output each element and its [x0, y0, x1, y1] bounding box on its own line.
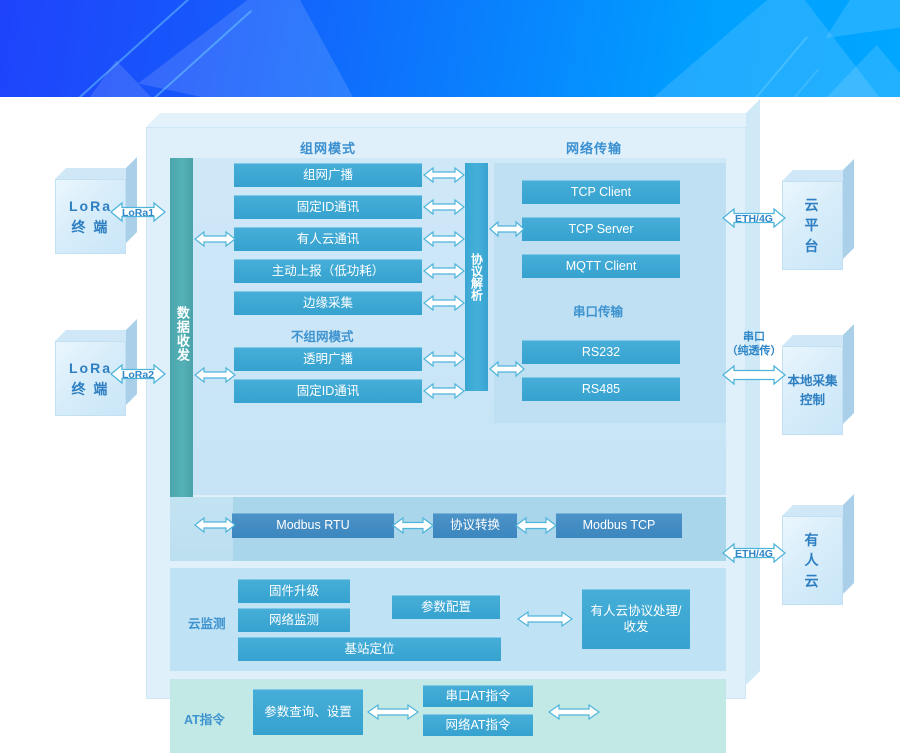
networking-item-4[interactable]: 边缘采集 — [234, 291, 422, 315]
modbus-rtu-button[interactable]: Modbus RTU — [232, 513, 394, 538]
protocol-parse-bar: 协议解析 — [465, 163, 488, 391]
cloud-protocol-handler-button[interactable]: 有人云协议处理/收发 — [582, 589, 690, 649]
section-label-serial-transmission: 串口传输 — [573, 301, 623, 320]
lora-terminal-2-top-face — [55, 330, 137, 341]
svg-text:ETH/4G: ETH/4G — [735, 548, 773, 560]
arrow-data-to-no-networking — [194, 365, 236, 385]
lora-terminal-1-top-face — [55, 168, 137, 179]
arrow-networking-3 — [423, 261, 465, 281]
at-network-command-button[interactable]: 网络AT指令 — [423, 714, 533, 736]
arrow-data-to-modbus — [194, 515, 236, 535]
arrow-convert-to-modbus-tcp — [515, 516, 557, 535]
serial-item-1[interactable]: RS485 — [522, 377, 680, 401]
local-collection-right-face — [843, 324, 854, 424]
data-transceive-bar: 数据收发 — [170, 158, 193, 510]
cloud-monitor-label: 云监测 — [188, 613, 226, 632]
arrow-networking-1 — [423, 197, 465, 217]
serial-link-label: 串口 （纯透传） — [722, 330, 786, 359]
lora-terminal-1-title: LoRa — [69, 196, 112, 216]
diagram-stage: 组网模式 网络传输 数据收发 协议解析 组网广播 固定ID通讯 有人云通讯 主动… — [146, 127, 746, 699]
arrow-serial-link — [722, 363, 786, 387]
svg-text:ETH/4G: ETH/4G — [735, 213, 773, 225]
arrow-cloud-platform-link: ETH/4G — [722, 206, 786, 230]
network-item-0[interactable]: TCP Client — [522, 180, 680, 204]
section-label-network-transmission: 网络传输 — [566, 138, 622, 157]
local-collection-line-1: 控制 — [800, 391, 825, 409]
arrow-networking-4 — [423, 293, 465, 313]
arrow-lora2-link: LoRa2 — [110, 362, 166, 386]
serial-item-0[interactable]: RS232 — [522, 340, 680, 364]
arrow-cloud-to-handler — [517, 609, 573, 629]
usr-cloud-right-face — [843, 494, 854, 594]
local-collection-front-face: 本地采集 控制 — [782, 346, 843, 435]
arrow-data-to-networking — [194, 229, 236, 249]
protocol-parse-label: 协议解析 — [468, 253, 486, 301]
local-collection-line-0: 本地采集 — [787, 372, 837, 390]
cloud-platform-right-face — [843, 159, 854, 259]
at-serial-command-button[interactable]: 串口AT指令 — [423, 685, 533, 707]
networking-item-3[interactable]: 主动上报（低功耗） — [234, 259, 422, 283]
top-banner — [0, 0, 900, 97]
arrow-at-query-to-commands — [367, 702, 419, 722]
networking-item-2[interactable]: 有人云通讯 — [234, 227, 422, 251]
usr-cloud-node[interactable]: 有 人 云 — [782, 505, 854, 605]
modbus-tcp-button[interactable]: Modbus TCP — [556, 513, 682, 538]
cloud-platform-line-1: 平 — [805, 215, 821, 235]
data-transceive-label: 数据收发 — [172, 306, 191, 362]
network-item-1[interactable]: TCP Server — [522, 217, 680, 241]
arrow-networking-2 — [423, 229, 465, 249]
network-item-2[interactable]: MQTT Client — [522, 254, 680, 278]
serial-link-label-main: 串口 — [722, 330, 786, 344]
at-command-label: AT指令 — [184, 709, 225, 728]
no-networking-item-0[interactable]: 透明广播 — [234, 347, 422, 371]
lora-terminal-2-subtitle: 终 端 — [72, 379, 110, 399]
cloud-platform-front-face: 云 平 台 — [782, 181, 843, 270]
arrow-at-commands-out — [548, 702, 600, 722]
cloud-item-network-monitor[interactable]: 网络监测 — [238, 608, 350, 632]
cloud-item-base-station-location[interactable]: 基站定位 — [238, 637, 501, 661]
usr-cloud-line-1: 人 — [805, 550, 821, 570]
cloud-platform-line-0: 云 — [805, 195, 821, 215]
triangle-decoration-icon — [788, 42, 900, 97]
networking-item-0[interactable]: 组网广播 — [234, 163, 422, 187]
arrow-no-networking-0 — [423, 349, 465, 369]
lora-terminal-1-subtitle: 终 端 — [72, 217, 110, 237]
arrow-lora1-link: LoRa1 — [110, 200, 166, 224]
protocol-convert-button[interactable]: 协议转换 — [433, 513, 517, 538]
section-label-no-networking-mode: 不组网模式 — [291, 326, 354, 345]
cloud-item-firmware-upgrade[interactable]: 固件升级 — [238, 579, 350, 603]
svg-text:LoRa1: LoRa1 — [122, 207, 154, 219]
no-networking-item-1[interactable]: 固定ID通讯 — [234, 379, 422, 403]
at-param-query-button[interactable]: 参数查询、设置 — [253, 689, 363, 735]
arrow-protocol-to-network — [489, 219, 525, 239]
serial-link-label-sub: （纯透传） — [722, 344, 786, 358]
arrow-modbus-rtu-to-convert — [392, 516, 434, 535]
svg-text:LoRa2: LoRa2 — [122, 369, 154, 381]
arrow-no-networking-1 — [423, 381, 465, 401]
lora-terminal-2-title: LoRa — [69, 358, 112, 378]
cloud-item-param-config[interactable]: 参数配置 — [392, 595, 500, 619]
cloud-platform-line-2: 台 — [805, 236, 821, 256]
usr-cloud-line-0: 有 — [805, 530, 821, 550]
arrow-usr-cloud-link: ETH/4G — [722, 541, 786, 565]
section-label-networking-mode: 组网模式 — [300, 138, 356, 157]
arrow-networking-0 — [423, 165, 465, 185]
container-top-face — [146, 113, 760, 127]
usr-cloud-front-face: 有 人 云 — [782, 516, 843, 605]
local-collection-control-node[interactable]: 本地采集 控制 — [782, 335, 854, 435]
container-right-face — [746, 99, 760, 685]
networking-item-1[interactable]: 固定ID通讯 — [234, 195, 422, 219]
arrow-protocol-to-serial — [489, 359, 525, 379]
usr-cloud-line-2: 云 — [805, 571, 821, 591]
cloud-platform-node[interactable]: 云 平 台 — [782, 170, 854, 270]
